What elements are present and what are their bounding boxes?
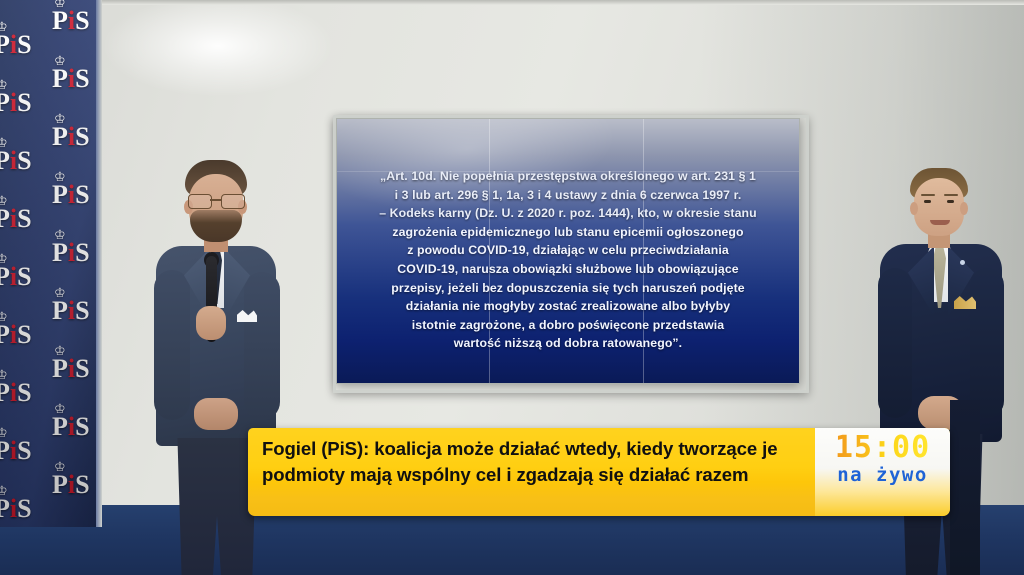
pis-logo: ♔PiS (52, 240, 90, 266)
pis-letter-p: P (0, 262, 10, 291)
pis-logo-grid: ♔PiS♔PiS♔PiS♔PiS♔PiS♔PiS♔PiS♔PiS♔PiS♔PiS… (0, 0, 100, 527)
pis-letter-s: S (75, 238, 89, 267)
slide-line: COVID-19, narusza obowiązki służbowe lub… (349, 260, 787, 279)
pis-logo: ♔PiS (0, 148, 32, 174)
slide-line: zagrożenia epidemicznego lub stanu epice… (349, 223, 787, 242)
crown-icon: ♔ (0, 427, 7, 440)
crown-icon: ♔ (54, 461, 65, 474)
slide-line: działania nie mogłyby zostać zrealizowan… (349, 297, 787, 316)
pis-logo: ♔PiS (0, 496, 32, 522)
crown-icon: ♔ (54, 403, 65, 416)
pis-letter-s: S (17, 378, 31, 407)
pis-letter-p: P (0, 494, 10, 523)
live-clock-badge: 15:00 na żywo (815, 428, 950, 516)
pis-letter-s: S (17, 494, 31, 523)
pis-logo: ♔PiS (52, 298, 90, 324)
pis-logo: ♔PiS (0, 90, 32, 116)
pis-letter-s: S (75, 64, 89, 93)
crown-icon: ♔ (54, 229, 65, 242)
pis-logo-backdrop: ♔PiS♔PiS♔PiS♔PiS♔PiS♔PiS♔PiS♔PiS♔PiS♔PiS… (0, 0, 100, 527)
pis-letter-s: S (17, 320, 31, 349)
banner-line: podmioty mają wspólny cel i zgadzają się… (262, 462, 818, 488)
pis-letter-p: P (52, 412, 68, 441)
pis-letter-p: P (52, 180, 68, 209)
pis-letter-i: i (68, 470, 75, 499)
pis-letter-p: P (52, 122, 68, 151)
left-presenter-arm-left (154, 270, 190, 420)
pis-logo: ♔PiS (52, 356, 90, 382)
pis-letter-p: P (0, 436, 10, 465)
eyeglasses-icon (187, 194, 245, 207)
slide-line: z powodu COVID-19, działając w celu prze… (349, 241, 787, 260)
broadcast-screenshot: ♔PiS♔PiS♔PiS♔PiS♔PiS♔PiS♔PiS♔PiS♔PiS♔PiS… (0, 0, 1024, 575)
pis-letter-s: S (75, 122, 89, 151)
crown-icon: ♔ (54, 287, 65, 300)
pis-letter-s: S (17, 262, 31, 291)
crown-icon: ♔ (0, 369, 7, 382)
pis-letter-p: P (52, 470, 68, 499)
slide-line: „Art. 10d. Nie popełnia przestępstwa okr… (349, 167, 787, 186)
glasses-bridge (210, 199, 222, 201)
pis-letter-s: S (17, 88, 31, 117)
pis-letter-i: i (68, 64, 75, 93)
clock-time: 15:00 (815, 432, 950, 464)
left-beard (190, 210, 242, 242)
pis-letter-i: i (68, 6, 75, 35)
pis-letter-p: P (52, 354, 68, 383)
slide-line: – Kodeks karny (Dz. U. z 2020 r. poz. 14… (349, 204, 787, 223)
pis-logo: ♔PiS (52, 124, 90, 150)
pis-letter-i: i (10, 262, 17, 291)
pis-letter-i: i (10, 30, 17, 59)
crown-icon: ♔ (0, 79, 7, 92)
slide-line: przepisy, jeżeli bez dopuszczenia się ty… (349, 279, 787, 298)
right-eye (924, 200, 931, 203)
led-video-wall: „Art. 10d. Nie popełnia przestępstwa okr… (336, 118, 800, 384)
crown-icon: ♔ (0, 137, 7, 150)
pis-letter-s: S (17, 204, 31, 233)
pis-letter-i: i (68, 238, 75, 267)
pis-letter-p: P (0, 88, 10, 117)
pis-logo: ♔PiS (52, 66, 90, 92)
lower-third-banner: Fogiel (PiS): koalicja może działać wted… (248, 428, 950, 516)
crown-icon: ♔ (54, 55, 65, 68)
pis-logo: ♔PiS (52, 472, 90, 498)
pis-logo: ♔PiS (52, 8, 90, 34)
pis-logo: ♔PiS (52, 182, 90, 208)
crown-icon: ♔ (54, 345, 65, 358)
pis-letter-p: P (0, 204, 10, 233)
pis-letter-p: P (0, 320, 10, 349)
pis-letter-p: P (0, 0, 10, 1)
right-presenter-arm-left (878, 268, 912, 418)
right-ear (960, 202, 968, 215)
pis-logo: ♔PiS (0, 438, 32, 464)
pis-logo: ♔PiS (0, 264, 32, 290)
pis-logo: ♔PiS (0, 380, 32, 406)
right-mouth (930, 220, 950, 225)
pis-logo: ♔PiS (52, 414, 90, 440)
pis-letter-s: S (75, 354, 89, 383)
pis-letter-i: i (68, 296, 75, 325)
pis-letter-p: P (52, 6, 68, 35)
left-presenter-arm-right (244, 272, 280, 420)
pis-letter-i: i (10, 0, 17, 1)
pis-letter-s: S (75, 296, 89, 325)
wall-top-trim (98, 0, 1024, 5)
clock-live-label: na żywo (815, 464, 950, 486)
pis-letter-s: S (17, 0, 31, 1)
pis-letter-i: i (10, 204, 17, 233)
slide-line: istotnie zagrożone, a dobro poświęcone p… (349, 316, 787, 335)
slide-line: wartość niższą od dobra ratowanego”. (349, 334, 787, 353)
pis-letter-p: P (0, 146, 10, 175)
crown-icon: ♔ (54, 113, 65, 126)
crown-icon: ♔ (0, 195, 7, 208)
pis-letter-s: S (75, 470, 89, 499)
backdrop-edge (96, 0, 102, 527)
pis-letter-i: i (10, 436, 17, 465)
pis-letter-i: i (10, 494, 17, 523)
left-hand-lower (194, 398, 238, 430)
pis-letter-s: S (75, 412, 89, 441)
left-hand-upper (196, 306, 226, 340)
pis-logo: ♔PiS (0, 32, 32, 58)
pis-letter-i: i (68, 412, 75, 441)
pis-letter-i: i (68, 122, 75, 151)
right-eye (947, 200, 954, 203)
right-presenter-arm-right (970, 268, 1004, 418)
crown-icon: ♔ (0, 485, 7, 498)
lens (188, 194, 212, 209)
lens (221, 194, 245, 209)
right-ear (910, 202, 918, 215)
pis-letter-i: i (10, 320, 17, 349)
pis-logo: ♔PiS (0, 322, 32, 348)
pis-letter-p: P (52, 238, 68, 267)
pis-letter-i: i (10, 378, 17, 407)
crown-icon: ♔ (54, 0, 65, 10)
right-head (914, 178, 964, 236)
pis-letter-i: i (10, 88, 17, 117)
pis-letter-s: S (17, 146, 31, 175)
pis-letter-p: P (52, 64, 68, 93)
pis-letter-s: S (75, 6, 89, 35)
slide-legal-text: „Art. 10d. Nie popełnia przestępstwa okr… (337, 167, 799, 353)
crown-icon: ♔ (0, 311, 7, 324)
pis-letter-i: i (68, 180, 75, 209)
pis-letter-s: S (17, 436, 31, 465)
banner-headline: Fogiel (PiS): koalicja może działać wted… (262, 436, 818, 488)
pis-letter-i: i (10, 146, 17, 175)
banner-line: Fogiel (PiS): koalicja może działać wted… (262, 436, 818, 462)
pis-letter-p: P (0, 378, 10, 407)
pis-letter-p: P (52, 296, 68, 325)
pis-logo: ♔PiS (0, 206, 32, 232)
crown-icon: ♔ (54, 171, 65, 184)
pis-letter-i: i (68, 354, 75, 383)
slide-line: i 3 lub art. 296 § 1, 1a, 3 i 4 ustawy z… (349, 186, 787, 205)
crown-icon: ♔ (0, 253, 7, 266)
pis-letter-s: S (75, 180, 89, 209)
crown-icon: ♔ (0, 21, 7, 34)
lapel-pin-icon (960, 260, 965, 265)
right-dark-column (950, 400, 980, 575)
pis-letter-p: P (0, 30, 10, 59)
pis-letter-s: S (17, 30, 31, 59)
